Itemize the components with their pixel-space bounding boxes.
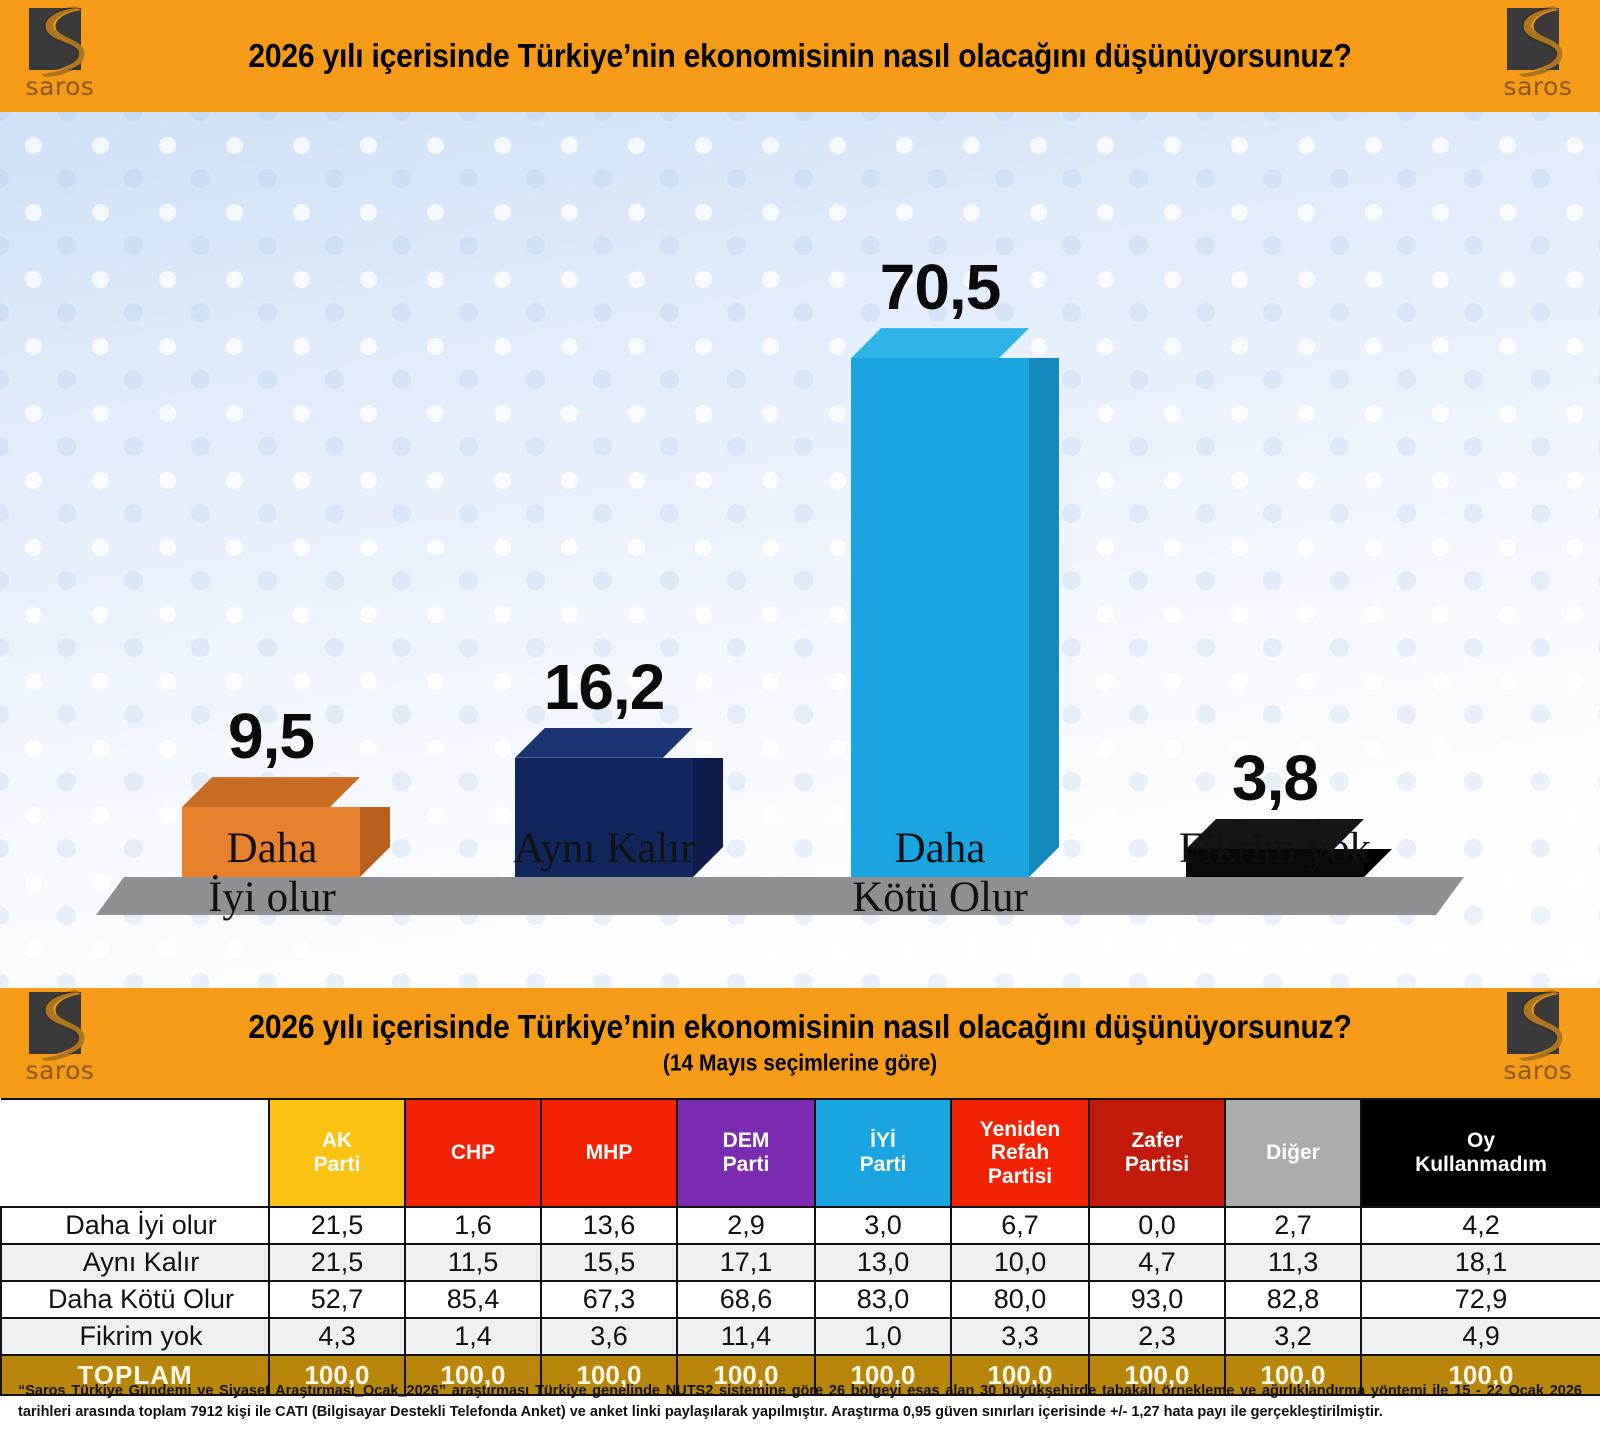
table-row: Daha Kötü Olur52,785,467,368,683,080,093… <box>1 1281 1600 1318</box>
table-cell: 72,9 <box>1361 1281 1600 1318</box>
category-label-line1: Fikrim yok <box>1135 824 1415 873</box>
table-cell: 83,0 <box>815 1281 951 1318</box>
bar-side-face <box>1029 358 1059 877</box>
table-row: Daha İyi olur21,51,613,62,93,06,70,02,74… <box>1 1207 1600 1244</box>
crosstab-table: AKPartiCHPMHPDEMPartiİYİPartiYenidenRefa… <box>0 1098 1600 1396</box>
table-cell: 67,3 <box>541 1281 677 1318</box>
column-header-line: Partisi <box>953 1165 1087 1189</box>
bar-top-face <box>515 728 693 758</box>
table-cell: 2,7 <box>1225 1207 1361 1244</box>
table-cell: 3,2 <box>1225 1318 1361 1355</box>
bar-chart: 9,5 16,2 70,5 3,8 Daha İy <box>0 112 1600 988</box>
category-label-daha-kotu-olur: Daha Kötü Olur <box>800 824 1080 923</box>
column-header-line: Parti <box>271 1153 403 1177</box>
column-header-line: CHP <box>407 1141 539 1165</box>
row-label: Fikrim yok <box>1 1318 269 1355</box>
column-header-i-yi-parti[interactable]: İYİParti <box>815 1099 951 1207</box>
column-header-line: DEM <box>679 1129 813 1153</box>
table-cell: 21,5 <box>269 1244 405 1281</box>
table-cell: 52,7 <box>269 1281 405 1318</box>
table-title: 2026 yılı içerisinde Türkiye’nin ekonomi… <box>248 1009 1351 1046</box>
bar-front-face <box>851 358 1029 877</box>
bar-fikrim-yok: 3,8 <box>1186 112 1364 877</box>
saros-logo: saros <box>1492 988 1584 1092</box>
column-header-mhp[interactable]: MHP <box>541 1099 677 1207</box>
row-label: Daha İyi olur <box>1 1207 269 1244</box>
column-header-line: Parti <box>679 1153 813 1177</box>
table-header-row: AKPartiCHPMHPDEMPartiİYİPartiYenidenRefa… <box>1 1099 1600 1207</box>
logo-swoosh-icon <box>25 988 95 1062</box>
bar-daha-iyi-olur: 9,5 <box>182 112 360 877</box>
table-cell: 6,7 <box>951 1207 1089 1244</box>
table-cell: 21,5 <box>269 1207 405 1244</box>
bar-value-label: 16,2 <box>515 650 693 724</box>
column-header-line: Partisi <box>1091 1153 1223 1177</box>
table-cell: 4,9 <box>1361 1318 1600 1355</box>
table-cell: 15,5 <box>541 1244 677 1281</box>
saros-logo-mark <box>1503 4 1573 78</box>
table-cell: 18,1 <box>1361 1244 1600 1281</box>
table-cell: 82,8 <box>1225 1281 1361 1318</box>
poll-infographic: 2026 yılı içerisinde Türkiye’nin ekonomi… <box>0 0 1600 1445</box>
table-cell: 1,6 <box>405 1207 541 1244</box>
column-header-yeniden-refah[interactable]: YenidenRefahPartisi <box>951 1099 1089 1207</box>
table-cell: 13,0 <box>815 1244 951 1281</box>
saros-logo-mark <box>1503 988 1573 1062</box>
column-header-line: Zafer <box>1091 1129 1223 1153</box>
methodology-footnote: “Saros Türkiye Gündemi ve Siyaset Araştı… <box>0 1377 1600 1422</box>
table-cell: 68,6 <box>677 1281 815 1318</box>
table-row: Aynı Kalır21,511,515,517,113,010,04,711,… <box>1 1244 1600 1281</box>
saros-logo: saros <box>14 988 106 1092</box>
category-label-line2: Kötü Olur <box>800 873 1080 922</box>
saros-logo-mark <box>25 988 95 1062</box>
saros-logo-mark <box>25 4 95 78</box>
table-cell: 11,5 <box>405 1244 541 1281</box>
table-cell: 3,6 <box>541 1318 677 1355</box>
table-cell: 17,1 <box>677 1244 815 1281</box>
column-header-line: MHP <box>543 1141 675 1165</box>
table-cell: 11,3 <box>1225 1244 1361 1281</box>
column-header-line: Diğer <box>1227 1141 1359 1165</box>
column-header-di-er[interactable]: Diğer <box>1225 1099 1361 1207</box>
table-cell: 85,4 <box>405 1281 541 1318</box>
column-header-chp[interactable]: CHP <box>405 1099 541 1207</box>
column-header-line: Kullanmadım <box>1363 1153 1599 1177</box>
category-label-line2: İyi olur <box>132 873 412 922</box>
table-cell: 11,4 <box>677 1318 815 1355</box>
category-label-ayni-kalir: Aynı Kalır <box>464 824 744 873</box>
category-label-line1: Aynı Kalır <box>464 824 744 873</box>
bar-top-face <box>851 328 1029 358</box>
column-header-line: Parti <box>817 1153 949 1177</box>
table-subtitle: (14 Mayıs seçimlerine göre) <box>663 1050 937 1076</box>
category-label-line1: Daha <box>800 824 1080 873</box>
column-header-line: Yeniden <box>953 1118 1087 1142</box>
bar-daha-kotu-olur: 70,5 <box>851 112 1029 877</box>
table-cell: 93,0 <box>1089 1281 1225 1318</box>
column-header-dem-parti[interactable]: DEMParti <box>677 1099 815 1207</box>
logo-swoosh-icon <box>25 4 95 78</box>
header-corner-blank <box>1 1099 269 1207</box>
bar-value-label: 9,5 <box>182 699 360 773</box>
category-label-fikrim-yok: Fikrim yok <box>1135 824 1415 873</box>
logo-swoosh-icon <box>1503 4 1573 78</box>
table-cell: 80,0 <box>951 1281 1089 1318</box>
top-banner: 2026 yılı içerisinde Türkiye’nin ekonomi… <box>0 0 1600 112</box>
column-header-line: AK <box>271 1129 403 1153</box>
table-cell: 3,0 <box>815 1207 951 1244</box>
saros-logo: saros <box>14 4 106 108</box>
table-row: Fikrim yok4,31,43,611,41,03,32,33,24,9 <box>1 1318 1600 1355</box>
bar-ayni-kalir: 16,2 <box>515 112 693 877</box>
saros-logo: saros <box>1492 4 1584 108</box>
category-label-line1: Daha <box>132 824 412 873</box>
table-cell: 1,0 <box>815 1318 951 1355</box>
row-label: Daha Kötü Olur <box>1 1281 269 1318</box>
column-header-line: İYİ <box>817 1129 949 1153</box>
table-cell: 1,4 <box>405 1318 541 1355</box>
table-banner: 2026 yılı içerisinde Türkiye’nin ekonomi… <box>0 988 1600 1098</box>
table-cell: 13,6 <box>541 1207 677 1244</box>
bar-top-face <box>182 777 360 807</box>
table-cell: 3,3 <box>951 1318 1089 1355</box>
column-header-zafer-partisi[interactable]: ZaferPartisi <box>1089 1099 1225 1207</box>
bar-value-label: 3,8 <box>1186 741 1364 815</box>
table-cell: 2,9 <box>677 1207 815 1244</box>
table-body: Daha İyi olur21,51,613,62,93,06,70,02,74… <box>1 1207 1600 1395</box>
column-header-oy-kullanmad-m[interactable]: OyKullanmadım <box>1361 1099 1600 1207</box>
table-cell: 4,2 <box>1361 1207 1600 1244</box>
table-cell: 0,0 <box>1089 1207 1225 1244</box>
table-cell: 4,3 <box>269 1318 405 1355</box>
category-label-daha-iyi-olur: Daha İyi olur <box>132 824 412 923</box>
column-header-line: Refah <box>953 1141 1087 1165</box>
logo-swoosh-icon <box>1503 988 1573 1062</box>
bar-value-label: 70,5 <box>851 250 1029 324</box>
table-cell: 10,0 <box>951 1244 1089 1281</box>
column-header-line: Oy <box>1363 1129 1599 1153</box>
row-label: Aynı Kalır <box>1 1244 269 1281</box>
column-header-ak-parti[interactable]: AKParti <box>269 1099 405 1207</box>
table-cell: 4,7 <box>1089 1244 1225 1281</box>
page-title: 2026 yılı içerisinde Türkiye’nin ekonomi… <box>248 38 1351 75</box>
table-cell: 2,3 <box>1089 1318 1225 1355</box>
